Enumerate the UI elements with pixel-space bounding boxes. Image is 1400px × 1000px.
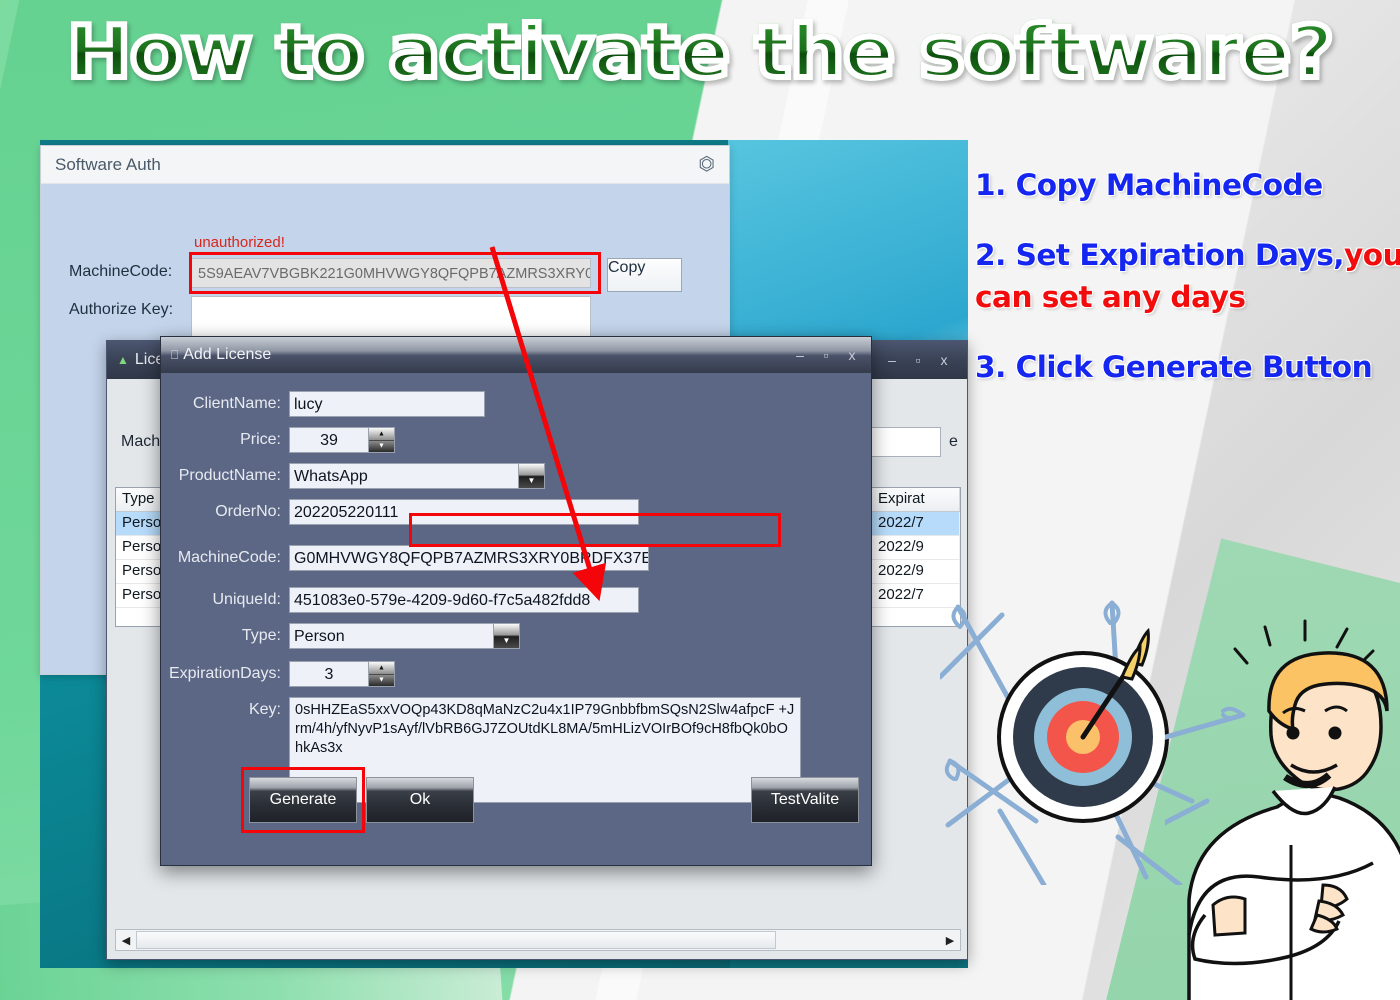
scrollbar-thumb[interactable] <box>136 931 776 949</box>
page-title-text: How to activate the software? <box>67 8 1333 96</box>
cell-expiration: 2022/7 <box>872 512 960 535</box>
instruction-step-3: 3. Click Generate Button <box>975 350 1400 384</box>
clientname-label: ClientName: <box>161 395 281 413</box>
expirationdays-stepper-buttons[interactable]: ▲ ▼ <box>369 661 395 687</box>
price-stepper-buttons[interactable]: ▲ ▼ <box>369 427 395 453</box>
minimize-icon[interactable]: – <box>787 347 813 363</box>
chevron-down-icon[interactable]: ▼ <box>519 463 545 489</box>
close-icon[interactable]: x <box>839 347 865 363</box>
uniqueid-label: UniqueId: <box>161 591 281 609</box>
type-label: Type: <box>161 627 281 645</box>
key-label: Key: <box>161 697 281 719</box>
expirationdays-row: ExpirationDays: 3 ▲ ▼ <box>161 661 395 687</box>
instruction-step-2-text: 2. Set Expiration Days, <box>975 238 1344 272</box>
add-license-dialog: ⎕ Add License – ▫ x ClientName: lucy Pri… <box>160 336 872 866</box>
window-restore-icon: ⎕ <box>171 348 178 363</box>
instructions-list: 1. Copy MachineCode 2. Set Expiration Da… <box>975 168 1395 420</box>
person-illustration <box>1165 615 1400 1000</box>
maximize-icon[interactable]: ▫ <box>813 347 839 363</box>
cell-expiration: 2022/9 <box>872 560 960 583</box>
price-row: Price: 39 ▲ ▼ <box>161 427 395 453</box>
price-input[interactable]: 39 <box>289 427 369 453</box>
productname-label: ProductName: <box>161 467 281 485</box>
price-label: Price: <box>161 431 281 449</box>
expirationdays-input[interactable]: 3 <box>289 661 369 687</box>
instruction-step-2: 2. Set Expiration Days,you <box>975 238 1400 272</box>
generate-button[interactable]: Generate <box>249 777 357 823</box>
price-stepper-up[interactable]: ▲ <box>369 428 394 441</box>
authorize-key-label: Authorize Key: <box>69 296 191 319</box>
chevron-down-icon: ▼ <box>378 677 385 684</box>
clientname-input[interactable]: lucy <box>289 391 485 417</box>
expirationdays-stepper[interactable]: 3 ▲ ▼ <box>289 661 395 687</box>
chevron-down-icon[interactable]: ▼ <box>494 623 520 649</box>
horizontal-scrollbar[interactable]: ◀ ▶ <box>115 929 961 951</box>
add-license-form: ClientName: lucy Price: 39 ▲ ▼ ProductNa… <box>161 373 871 865</box>
app-logo-icon: ▲ <box>117 353 129 367</box>
type-row: Type: Person ▼ <box>161 623 520 649</box>
cell-expiration: 2022/9 <box>872 536 960 559</box>
type-value[interactable]: Person <box>289 623 494 649</box>
desktop-screenshot: Software Auth ⏣ unauthorized! MachineCod… <box>40 140 968 968</box>
chevron-down-icon: ▼ <box>378 443 385 450</box>
software-auth-title-text: Software Auth <box>55 155 161 175</box>
orderno-label: OrderNo: <box>161 503 281 521</box>
add-license-title-text: Add License <box>183 346 787 364</box>
machinecode-row: MachineCode: G0MHVWGY8QFQPB7AZMRS3XRY0BR… <box>161 545 649 571</box>
price-stepper-down[interactable]: ▼ <box>369 441 394 453</box>
scroll-left-icon[interactable]: ◀ <box>116 934 136 947</box>
add-license-titlebar[interactable]: ⎕ Add License – ▫ x <box>161 337 871 373</box>
expirationdays-stepper-up[interactable]: ▲ <box>369 662 394 675</box>
instruction-step-1: 1. Copy MachineCode <box>975 168 1400 202</box>
close-icon[interactable]: x <box>931 352 957 368</box>
instruction-step-2-emphasis: you <box>1344 238 1400 272</box>
machinecode-label: MachineCode: <box>69 258 191 281</box>
machinecode-input[interactable]: 5S9AEAV7VBGBK221G0MHVWGY8QFQPB7AZMRS3XRY… <box>191 258 591 288</box>
clientname-row: ClientName: lucy <box>161 391 485 417</box>
productname-select[interactable]: WhatsApp ▼ <box>289 463 545 489</box>
ok-button[interactable]: Ok <box>366 777 474 823</box>
productname-row: ProductName: WhatsApp ▼ <box>161 463 545 489</box>
machinecode-input[interactable]: G0MHVWGY8QFQPB7AZMRS3XRY0BRDFX37ED2G <box>289 545 649 571</box>
orderno-row: OrderNo: 202205220111 <box>161 499 639 525</box>
productname-value[interactable]: WhatsApp <box>289 463 519 489</box>
chevron-up-icon: ▲ <box>378 430 385 437</box>
close-icon[interactable]: ⏣ <box>698 155 715 174</box>
machinecode-label: MachineCode: <box>161 549 281 567</box>
orderno-input[interactable]: 202205220111 <box>289 499 639 525</box>
expirationdays-stepper-down[interactable]: ▼ <box>369 675 394 687</box>
maximize-icon[interactable]: ▫ <box>905 352 931 368</box>
uniqueid-input[interactable]: 451083e0-579e-4209-9d60-f7c5a482fdd8 <box>289 587 639 613</box>
price-stepper[interactable]: 39 ▲ ▼ <box>289 427 395 453</box>
uniqueid-row: UniqueId: 451083e0-579e-4209-9d60-f7c5a4… <box>161 587 639 613</box>
minimize-icon[interactable]: – <box>879 352 905 368</box>
license-right-partial-label: e <box>949 433 958 451</box>
machinecode-row: MachineCode: 5S9AEAV7VBGBK221G0MHVWGY8QF… <box>69 258 682 292</box>
copy-button[interactable]: Copy <box>607 258 682 292</box>
testvalite-button[interactable]: TestValite <box>751 777 859 823</box>
type-select[interactable]: Person ▼ <box>289 623 520 649</box>
expirationdays-label: ExpirationDays: <box>161 665 281 683</box>
page-title: How to activate the software? <box>0 8 1400 96</box>
software-auth-titlebar[interactable]: Software Auth ⏣ <box>41 146 729 184</box>
instruction-step-2-continued: can set any days <box>975 280 1400 314</box>
scroll-right-icon[interactable]: ▶ <box>940 934 960 947</box>
unauthorized-status-text: unauthorized! <box>194 234 285 251</box>
chevron-up-icon: ▲ <box>378 664 385 671</box>
column-header-expiration[interactable]: Expirat <box>872 488 960 511</box>
